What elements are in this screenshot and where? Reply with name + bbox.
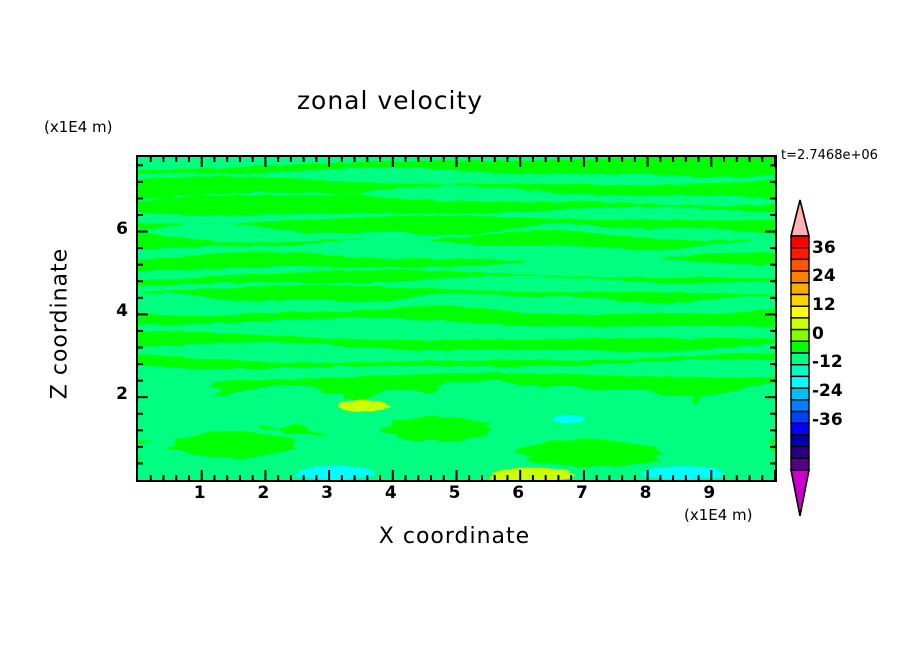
x-axis-title: X coordinate	[136, 524, 773, 549]
y-tick-label: 4	[104, 301, 128, 321]
colorbar-tick-label: -36	[812, 410, 843, 430]
x-tick-label: 7	[567, 483, 597, 503]
colorbar-tick-label: 24	[812, 266, 836, 286]
colorbar-band	[791, 306, 809, 318]
colorbar-band	[791, 330, 809, 342]
colorbar-band	[791, 295, 809, 307]
x-tick-label: 3	[312, 483, 342, 503]
time-annotation: t=2.7468e+06	[781, 148, 878, 163]
colorbar-band	[791, 318, 809, 330]
y-axis-title: Z coordinate	[48, 194, 73, 454]
colorbar-tick-label: -12	[812, 352, 843, 372]
colorbar-tick-label: 36	[812, 238, 836, 258]
colorbar-band	[791, 365, 809, 377]
colorbar-tick-label: 0	[812, 324, 824, 344]
x-tick-label: 4	[376, 483, 406, 503]
colorbar-band	[791, 283, 809, 295]
colorbar-band	[791, 412, 809, 424]
colorbar-band	[791, 458, 809, 470]
colorbar-band	[791, 271, 809, 283]
colorbar-under-cap	[791, 470, 809, 516]
colorbar-band	[791, 447, 809, 459]
colorbar-band	[791, 341, 809, 353]
x-tick-label: 5	[440, 483, 470, 503]
colorbar-tick-label: -24	[812, 381, 843, 401]
y-tick-label: 2	[104, 384, 128, 404]
colorbar-band	[791, 236, 809, 248]
colorbar-band	[791, 248, 809, 260]
colorbar-over-cap	[791, 200, 809, 236]
x-tick-label: 1	[185, 483, 215, 503]
y-axis-unit-note: (x1E4 m)	[44, 118, 113, 136]
colorbar-band	[791, 388, 809, 400]
x-tick-label: 8	[631, 483, 661, 503]
colorbar-band	[791, 376, 809, 388]
colorbar-band	[791, 423, 809, 435]
colorbar-band	[791, 435, 809, 447]
page-title: zonal velocity	[0, 86, 780, 115]
x-tick-label: 2	[248, 483, 278, 503]
colorbar-tick-label: 12	[812, 295, 836, 315]
colorbar-band	[791, 400, 809, 412]
colorbar-band	[791, 259, 809, 271]
y-tick-label: 6	[104, 219, 128, 239]
x-tick-label: 9	[694, 483, 724, 503]
colorbar-band	[791, 353, 809, 365]
contour-field	[138, 157, 775, 480]
x-tick-label: 6	[503, 483, 533, 503]
x-axis-unit-note: (x1E4 m)	[684, 506, 753, 524]
contour-plot-area	[136, 155, 777, 482]
